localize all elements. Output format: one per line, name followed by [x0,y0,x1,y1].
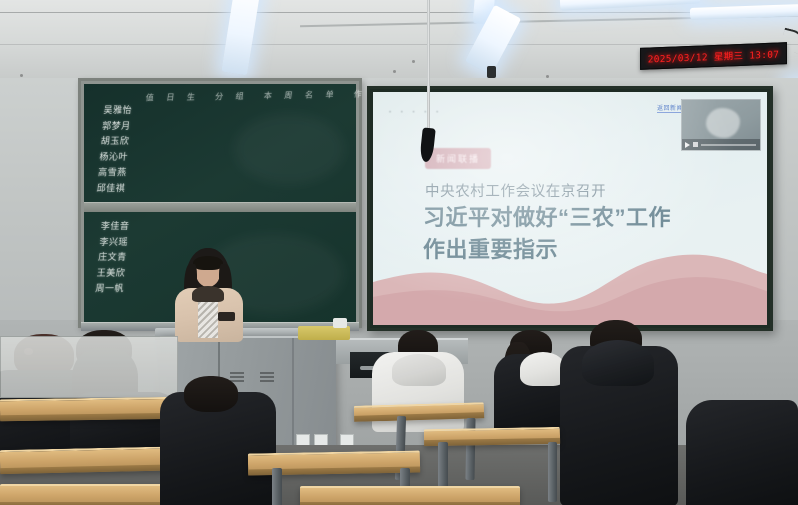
presenter-jacket-patch [218,312,235,321]
student-mid-left [160,382,280,505]
ceiling-seam [0,12,798,13]
blackboard-name-list-top: 吴雅怡 郭梦月 胡玉欣 杨沁叶 高雪燕 邱佳祺 [96,104,133,197]
video-frame-content [706,108,740,138]
slide-content: • • • • • 返回新闻 新闻联播 中央农村工作会议在京召开 习近平对做好“… [373,92,767,325]
slide-header-text: • • • • • [389,110,442,116]
stop-icon[interactable] [693,142,698,147]
play-icon[interactable] [685,142,690,148]
wall-speck [412,60,415,63]
student-right-dark [560,320,678,505]
video-control-bar[interactable] [682,139,760,150]
student-hood [582,340,654,386]
desk-surface [0,397,182,422]
student-jacket [686,400,798,505]
classroom-scene: 2025/03/12 星期三 13:07 值 日 生 分 组 本 周 名 单 作… [0,0,798,505]
podium-vent [260,372,274,382]
slide-wave-graphic [373,243,767,325]
presenter-shirt [198,298,218,338]
yellow-box-on-rail [298,326,350,340]
ceiling-seam [0,44,798,45]
presenter-collar [192,286,224,302]
student-head [184,376,238,412]
chalk-smudge [234,114,344,184]
student-hood [392,354,446,386]
blackboard-name-list-bottom: 李佳音 李兴瑶 庄文青 王美欣 周一帆 [95,220,130,298]
blackboard-center-rail [84,202,356,212]
video-preview-thumbnail[interactable] [681,99,761,151]
led-clock-text: 2025/03/12 星期三 13:07 [648,46,780,65]
wall-speck [20,74,23,77]
wall-speck [546,75,549,78]
desk-surface [300,486,520,505]
slide-subtitle: 中央农村工作会议在京召开 [425,180,606,201]
desk-panel [0,336,178,398]
slide-link[interactable]: 返回新闻 [657,103,683,113]
wall-sensor [487,66,496,78]
slide-badge: 新闻联播 [425,148,491,169]
wall-speck [393,70,396,73]
video-progress-track[interactable] [701,144,756,146]
podium-vent [230,372,244,382]
student-presenter [172,248,246,340]
desk-leg [272,468,282,505]
white-object-on-rail [333,318,347,328]
desk-leg [465,418,475,480]
desk-leg [548,442,557,502]
student-far-right [686,400,798,505]
student-center-white [370,330,466,440]
